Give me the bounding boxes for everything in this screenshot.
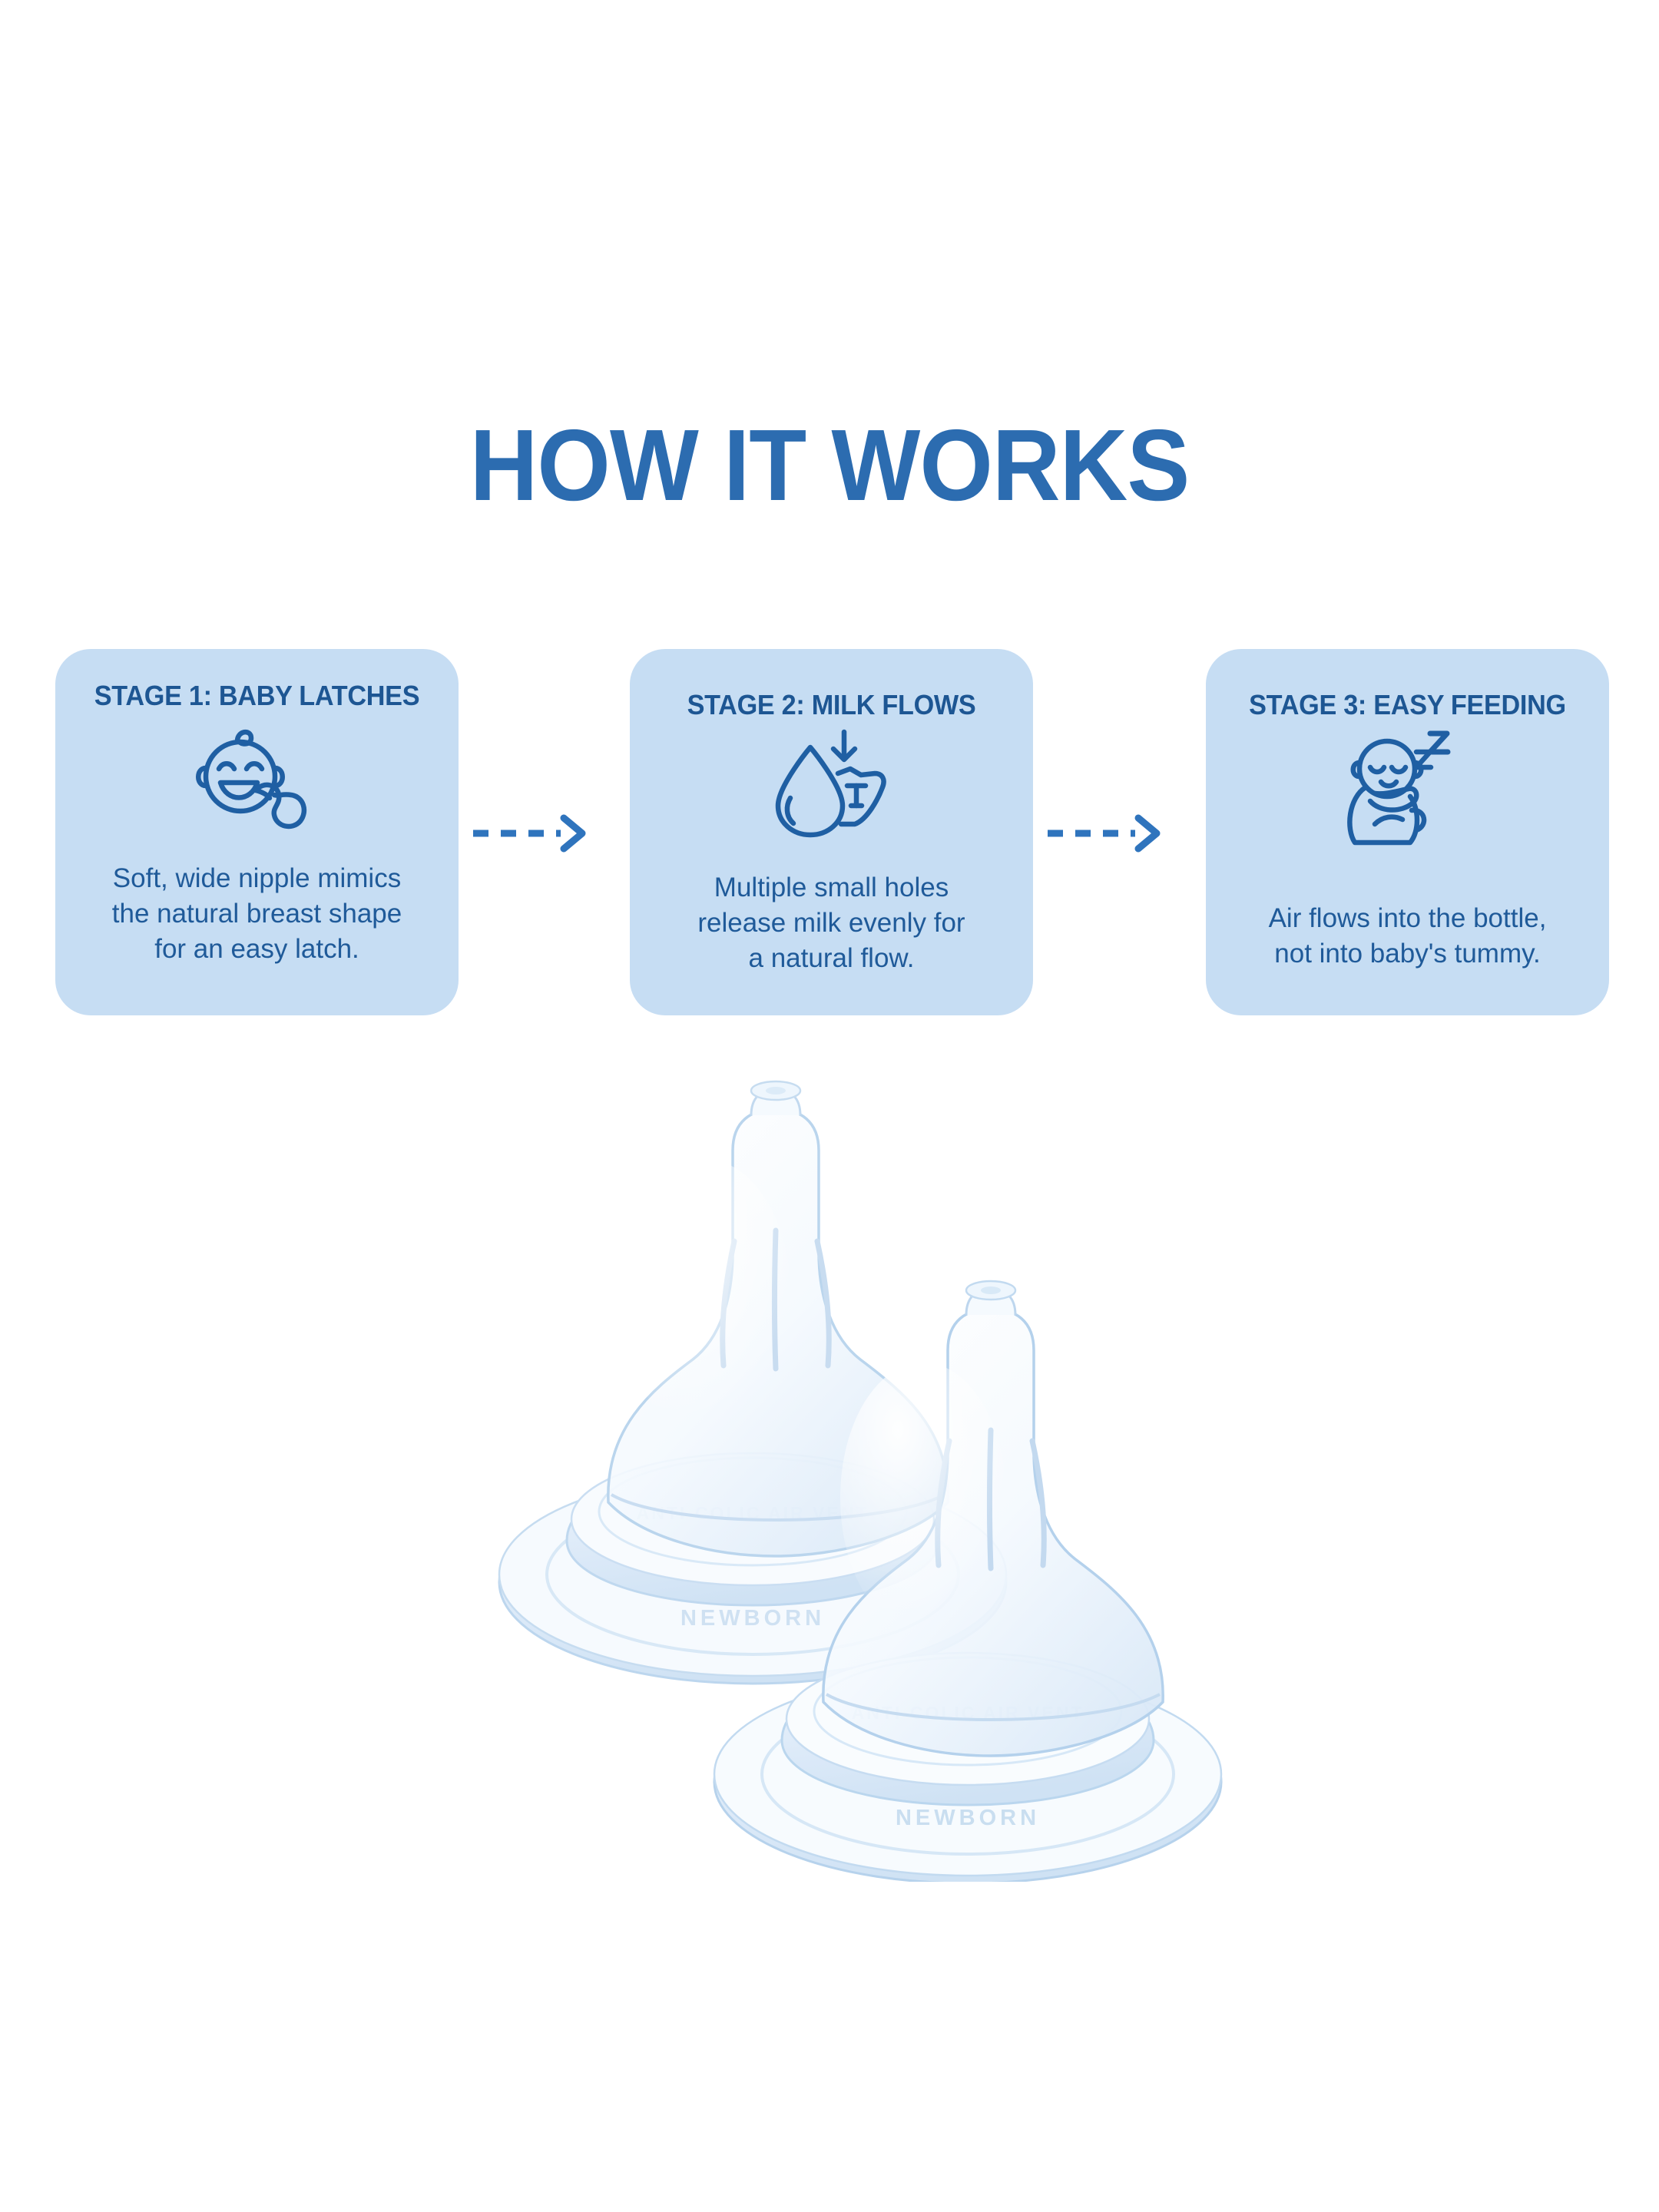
sleeping-baby-icon xyxy=(1339,717,1476,847)
dashed-arrow-stage1-to-stage2 xyxy=(470,810,593,856)
baby-latching-face-icon xyxy=(190,720,325,836)
stage-1-body: Soft, wide nipple mimics the natural bre… xyxy=(74,861,440,968)
embossed-newborn-label: NEWBORN xyxy=(680,1606,825,1631)
stage-1-icon-wrap xyxy=(55,720,459,836)
dashed-arrow-icon xyxy=(470,810,593,856)
stage-card-2: STAGE 2: MILK FLOWS xyxy=(630,649,1033,1015)
page-title: HOW IT WORKS xyxy=(58,415,1601,516)
milk-droplet-flow-icon xyxy=(770,726,893,841)
how-it-works-stage-strip: STAGE 1: BABY LATCHES xyxy=(0,649,1659,1018)
stage-2-body: Multiple small holes release milk evenly… xyxy=(648,870,1015,977)
stage-card-1: STAGE 1: BABY LATCHES xyxy=(55,649,459,1015)
stage-1-heading: STAGE 1: BABY LATCHES xyxy=(65,680,449,712)
embossed-newborn-label: NEWBORN xyxy=(896,1806,1040,1830)
stage-3-body: Air flows into the bottle, not into baby… xyxy=(1224,901,1591,972)
silicone-bottle-nipples-pair-illustration: NEWBORN ANTI-COLIC AIR VENT xyxy=(453,1068,1252,1882)
dashed-arrow-icon xyxy=(1045,810,1167,856)
stage-2-heading: STAGE 2: MILK FLOWS xyxy=(640,689,1023,721)
stage-2-icon-wrap xyxy=(630,726,1033,841)
stage-3-icon-wrap xyxy=(1206,717,1609,847)
stage-card-3: STAGE 3: EASY FEEDING xyxy=(1206,649,1609,1015)
product-photo-bottle-nipples: NEWBORN ANTI-COLIC AIR VENT xyxy=(453,1068,1252,1882)
dashed-arrow-stage2-to-stage3 xyxy=(1045,810,1167,856)
